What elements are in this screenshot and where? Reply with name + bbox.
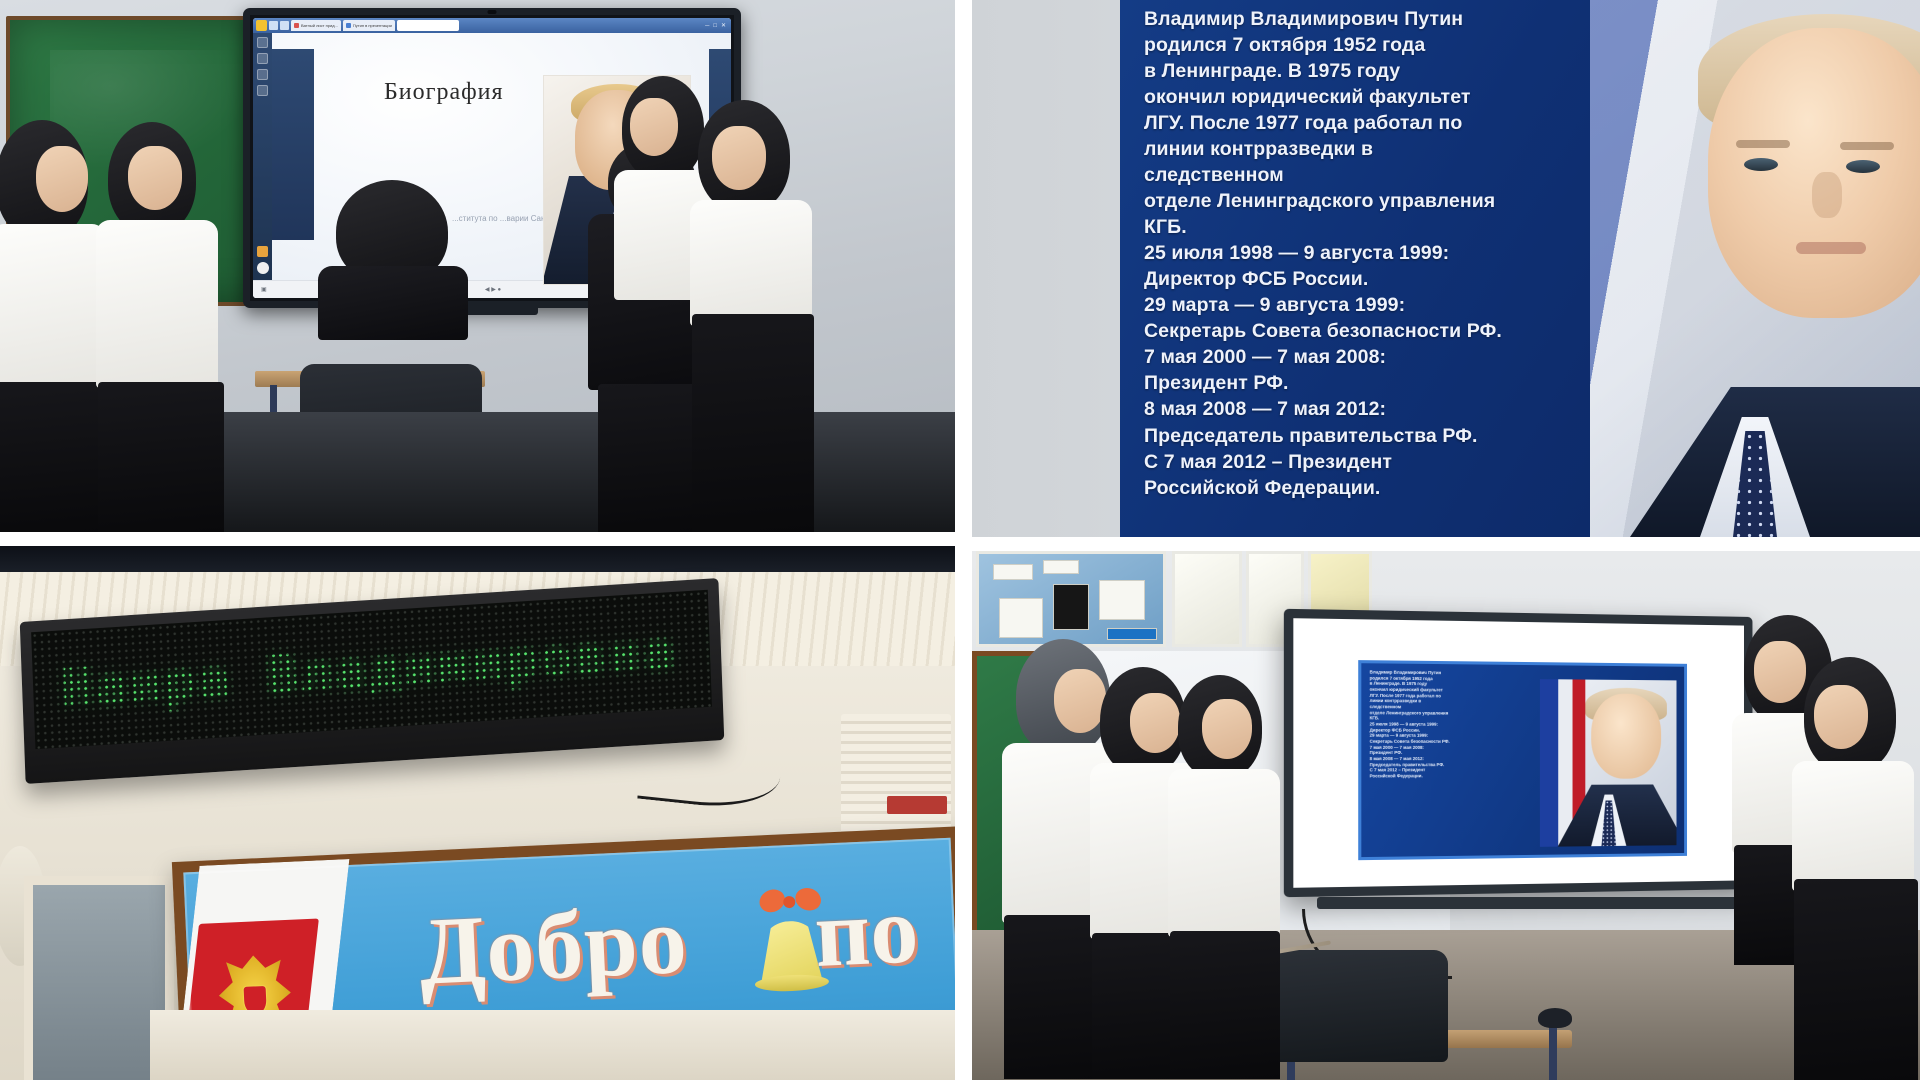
- face: [630, 98, 678, 156]
- tv-slide-text: Владимир Владимирович Путинродился 7 окт…: [1370, 669, 1532, 779]
- collage-panel-bottom-right: Владимир Владимирович Путинродился 7 окт…: [972, 551, 1920, 1080]
- tv-lower-bezel: [1317, 897, 1747, 909]
- dark-top: [318, 266, 468, 340]
- slide-text-line: Владимир Владимирович Путин: [1144, 6, 1614, 32]
- white-blouse: [690, 200, 812, 326]
- student-seated-at-computer: [312, 180, 472, 340]
- browser-tab-2[interactable]: Путин в презентации: [343, 20, 395, 31]
- slide-text-line: родился 7 октября 1952 года: [1144, 32, 1614, 58]
- slide-text-line: в Ленинграде. В 1975 году: [1144, 58, 1614, 84]
- face: [128, 146, 182, 210]
- slide-text-line: 8 мая 2008 — 7 мая 2012:: [1144, 396, 1614, 422]
- wall-poster-board: [976, 551, 1166, 647]
- slide-text-line: ЛГУ. После 1977 года работал по: [1144, 110, 1614, 136]
- portrait-brow-right: [1840, 142, 1894, 150]
- dark-pinafore: [1794, 879, 1918, 1080]
- wall-poster-figure: [1172, 551, 1242, 647]
- browser-tab-1[interactable]: Ватный лист прид...: [291, 20, 341, 31]
- document-icon[interactable]: [257, 69, 268, 80]
- poster-card: [1099, 580, 1145, 620]
- banner-word-po: по: [812, 873, 920, 989]
- close-icon[interactable]: ✕: [721, 22, 726, 29]
- eraser-icon[interactable]: [257, 262, 269, 274]
- portrait-face: [1708, 28, 1920, 318]
- tv-slide-text-line: Российской Федерации.: [1370, 773, 1532, 779]
- portrait-eye-right: [1846, 160, 1880, 173]
- banner-word-dobro: Добро: [417, 884, 690, 1007]
- white-blouse: [96, 220, 218, 388]
- student-girl-2: [96, 122, 226, 532]
- tv-screen: Владимир Владимирович Путинродился 7 окт…: [1293, 618, 1744, 888]
- slide-text-line: отделе Ленинградского управления: [1144, 188, 1614, 214]
- face: [712, 126, 766, 190]
- sidebar-bottom-tools: [257, 246, 269, 280]
- slide-text-line: Президент РФ.: [1144, 370, 1614, 396]
- slide-text-line: Директор ФСБ России.: [1144, 266, 1614, 292]
- chevron-down-icon[interactable]: [280, 21, 289, 30]
- clock-icon[interactable]: [257, 53, 268, 64]
- dark-pinafore: [692, 314, 814, 532]
- browser-tab-2-label: Путин в презентации: [353, 23, 392, 28]
- face: [1814, 685, 1868, 749]
- poster-card: [1053, 584, 1089, 630]
- face: [36, 146, 88, 212]
- maximize-icon[interactable]: □: [713, 23, 717, 29]
- collage-panel-top-right: Владимир Владимирович Путинродился 7 окт…: [972, 0, 1920, 537]
- photo-collage: Ватный лист прид... Путин в презентации …: [0, 0, 1920, 1080]
- dark-skirt: [98, 382, 224, 532]
- slide-text-line: КГБ.: [1144, 214, 1614, 240]
- poster-card: [993, 564, 1033, 580]
- white-blouse: [1792, 761, 1914, 891]
- poster-card: [1043, 560, 1079, 574]
- bell-ribbon-icon: [763, 888, 816, 924]
- portrait-mouth: [1796, 242, 1866, 254]
- ribbon-knot: [783, 896, 796, 909]
- app-sidebar: [253, 33, 272, 280]
- portrait-brow-left: [1736, 140, 1790, 148]
- collage-panel-top-left: Ватный лист прид... Путин в презентации …: [0, 0, 955, 532]
- slide-text-line: Председатель правительства РФ.: [1144, 423, 1614, 449]
- banner-lower-wall: [150, 1010, 955, 1080]
- slide-text-line: Российской Федерации.: [1144, 475, 1614, 501]
- portrait-nose: [1812, 172, 1842, 218]
- home-icon[interactable]: [257, 37, 268, 48]
- photo-top-dark-strip: [0, 546, 955, 572]
- browser-chrome: Ватный лист прид... Путин в презентации …: [253, 18, 731, 33]
- portrait-eye-left: [1744, 158, 1778, 171]
- pen-icon[interactable]: [257, 246, 268, 257]
- wall-mounted-tv[interactable]: Владимир Владимирович Путинродился 7 окт…: [1284, 609, 1753, 897]
- window-controls[interactable]: ─ □ ✕: [705, 22, 728, 29]
- status-left-icon: ▣: [261, 286, 267, 293]
- face: [1202, 699, 1252, 759]
- office-chair: [1272, 950, 1448, 1062]
- led-running-text: Наира Владимировна ГУ: [60, 614, 712, 719]
- folder-icon[interactable]: [257, 85, 268, 96]
- slide-text-line: 7 мая 2000 — 7 мая 2008:: [1144, 344, 1614, 370]
- tab-favicon-icon: [294, 23, 299, 28]
- poster-card: [999, 598, 1043, 638]
- browser-logo-icon: [256, 20, 267, 31]
- air-vent-grille: [841, 714, 951, 834]
- slide-text-line: следственном: [1144, 162, 1614, 188]
- student-girl-2: [1168, 675, 1288, 1079]
- white-blouse: [0, 224, 106, 390]
- slide-surface: Владимир Владимирович Путинродился 7 окт…: [1120, 0, 1920, 537]
- slide-text-line: Секретарь Совета безопасности РФ.: [1144, 318, 1614, 344]
- slide-text-line: 29 марта — 9 августа 1999:: [1144, 292, 1614, 318]
- student-girl-4: [690, 100, 820, 532]
- student-girl-4: [1792, 657, 1920, 1080]
- slide-text-line: линии контрразведки в: [1144, 136, 1614, 162]
- tab-favicon-icon: [346, 23, 351, 28]
- minimize-icon[interactable]: ─: [705, 23, 709, 29]
- slide-left-band: [272, 49, 314, 240]
- new-tab-button[interactable]: [397, 20, 459, 31]
- slide-text-line: С 7 мая 2012 – Президент: [1144, 449, 1614, 475]
- tv-slide: Владимир Владимирович Путинродился 7 окт…: [1358, 660, 1687, 860]
- portrait-face: [1591, 693, 1661, 778]
- playback-controls[interactable]: ◀ ▶ ●: [485, 286, 501, 293]
- browser-tab-1-label: Ватный лист прид...: [301, 23, 338, 28]
- white-blouse: [1168, 769, 1280, 937]
- putin-portrait: [1590, 0, 1920, 537]
- red-wall-object: [887, 796, 947, 814]
- computer-mouse: [1538, 1008, 1572, 1028]
- browser-menu-icon[interactable]: [269, 21, 278, 30]
- dark-skirt: [1170, 931, 1280, 1079]
- slide-biography-text: Владимир Владимирович Путинродился 7 окт…: [1144, 6, 1614, 501]
- slide-text-line: окончил юридический факультет: [1144, 84, 1614, 110]
- collage-panel-bottom-left: Наира Владимировна ГУ Добро: [0, 546, 955, 1080]
- slide-text-line: 25 июля 1998 — 9 августа 1999:: [1144, 240, 1614, 266]
- tv-slide-portrait: [1540, 679, 1677, 847]
- slide-title: Биография: [384, 79, 504, 106]
